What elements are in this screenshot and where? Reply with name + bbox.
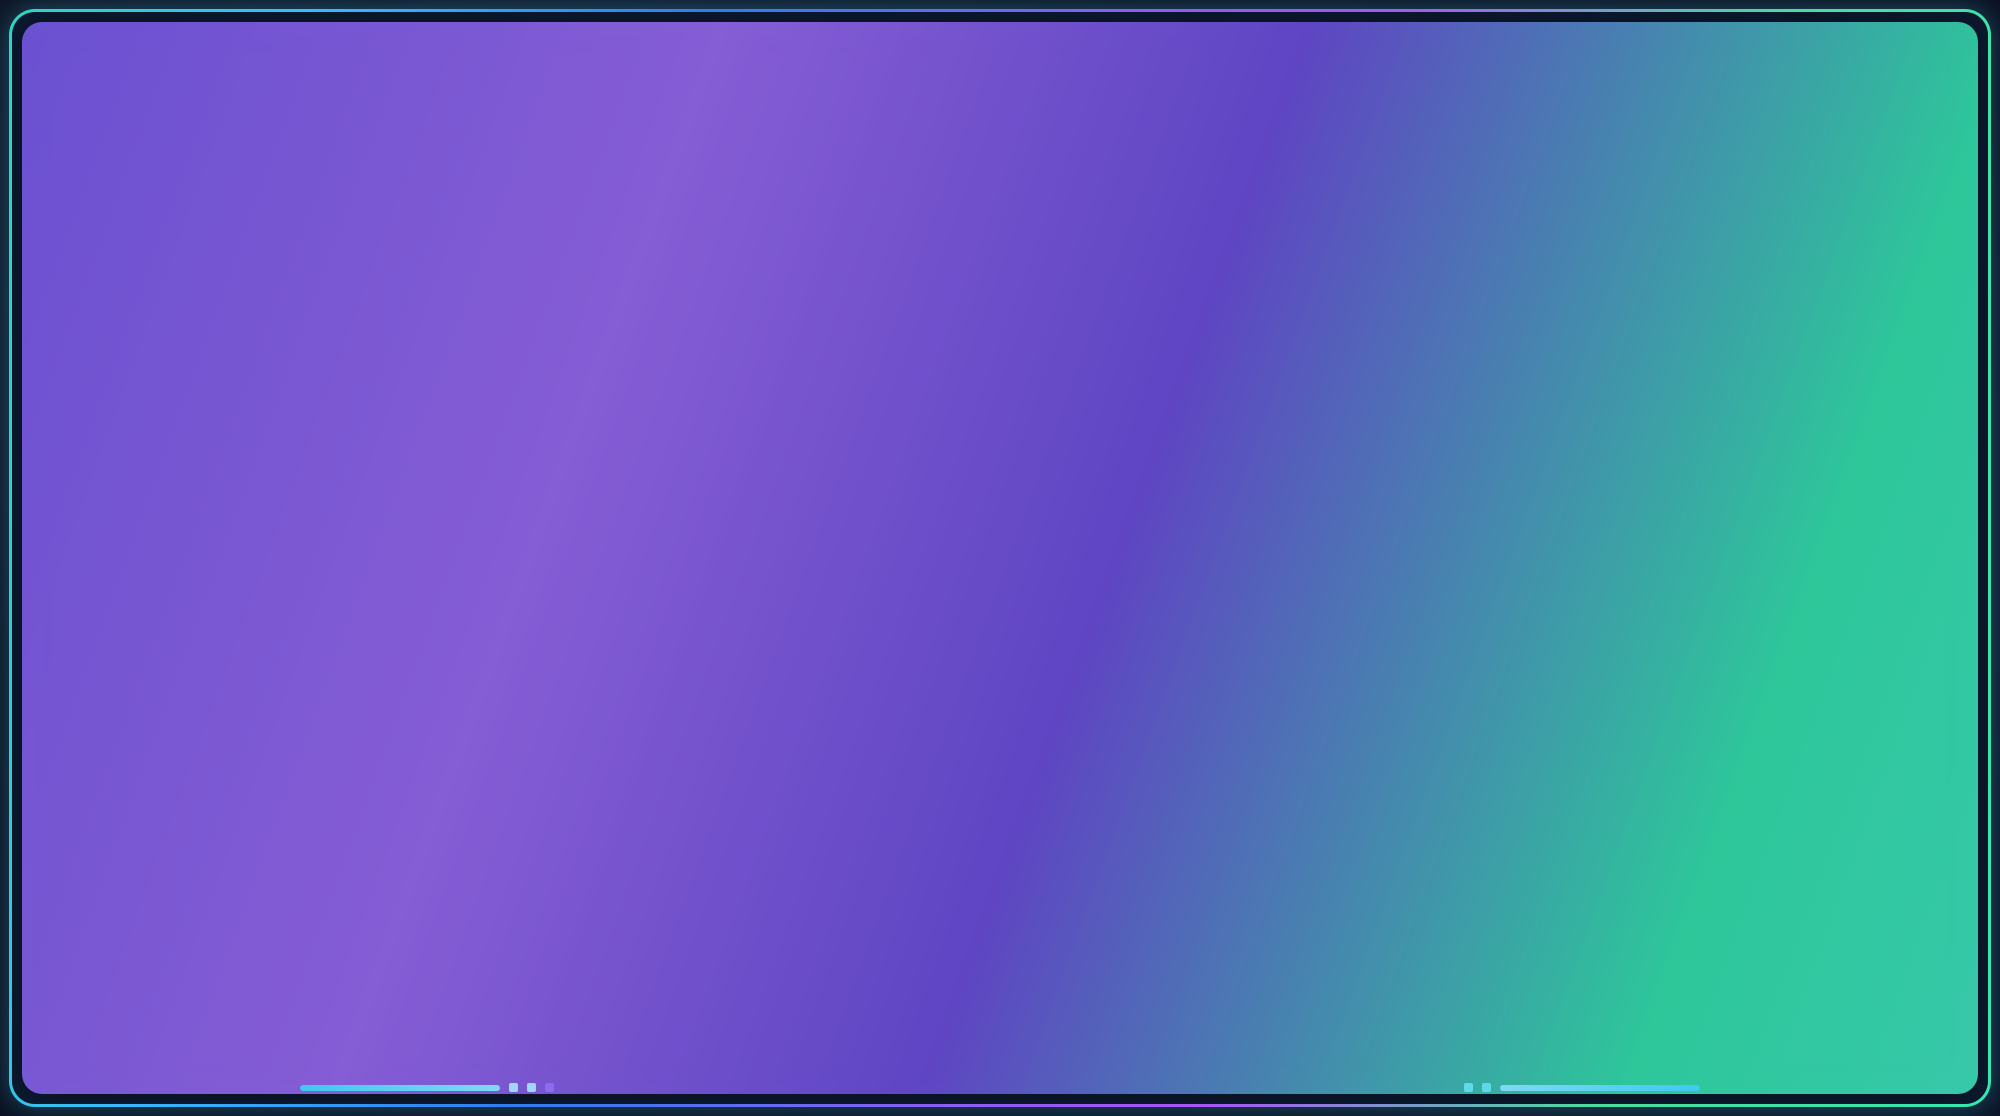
panel1-title: 1. SIGNING A JWT (jwt.sign()) — [80, 184, 611, 227]
middleware-code-text: function authenticateToken(req, res, nex… — [1187, 527, 1928, 1045]
padlock-icon — [1872, 50, 1934, 122]
bottom-left-decoration — [300, 1083, 554, 1092]
panel1-title-text: SIGNING A JWT — [122, 184, 408, 226]
verifying-code-block: try { const decoded = jwt.verify(token, … — [80, 880, 925, 1048]
jwt-logo-icon — [62, 54, 126, 118]
infographic-canvas: JWT REFERENCE: SIGNING, VERIFICATION & M… — [0, 0, 2000, 1116]
node-hexagon-icon — [1612, 46, 1684, 126]
panel2-number: 2. — [80, 666, 112, 708]
verifying-code-text: try { const decoded = jwt.verify(token, … — [82, 882, 923, 1048]
signing-code-text: const token = jwt.sign({ userId: 123, us… — [252, 497, 948, 607]
panel3-title-text: BEARER TOKEN MIDDLEWARE — [1075, 182, 1664, 225]
middleware-code-block: function authenticateToken(req, res, nex… — [1185, 525, 1930, 1045]
header-divider — [62, 138, 1938, 143]
panel3-suffix: in Express — [1675, 182, 1857, 225]
panel2-title-text: VERIFYING A JWT — [122, 666, 453, 708]
signing-code-block: const token = jwt.sign({ userId: 123, us… — [250, 495, 950, 607]
bottom-right-decoration — [1464, 1083, 1700, 1092]
panel1-number: 1. — [80, 184, 112, 226]
express-label: Express — [1704, 64, 1852, 109]
panel2-title: 2. VERIFYING A JWT (jwt.verify()) — [80, 666, 679, 709]
panel3-title: 3. BEARER TOKEN MIDDLEWARE in Express — [1032, 182, 1857, 226]
page-title: JWT REFERENCE: SIGNING, VERIFICATION & M… — [152, 62, 1425, 111]
panel1-method: (jwt.sign()) — [419, 184, 611, 226]
panel3-number: 3. — [1032, 182, 1065, 225]
header: JWT REFERENCE: SIGNING, VERIFICATION & M… — [46, 34, 1954, 138]
header-right-group: Express — [1612, 46, 1934, 126]
panel2-method: (jwt.verify()) — [464, 666, 679, 708]
